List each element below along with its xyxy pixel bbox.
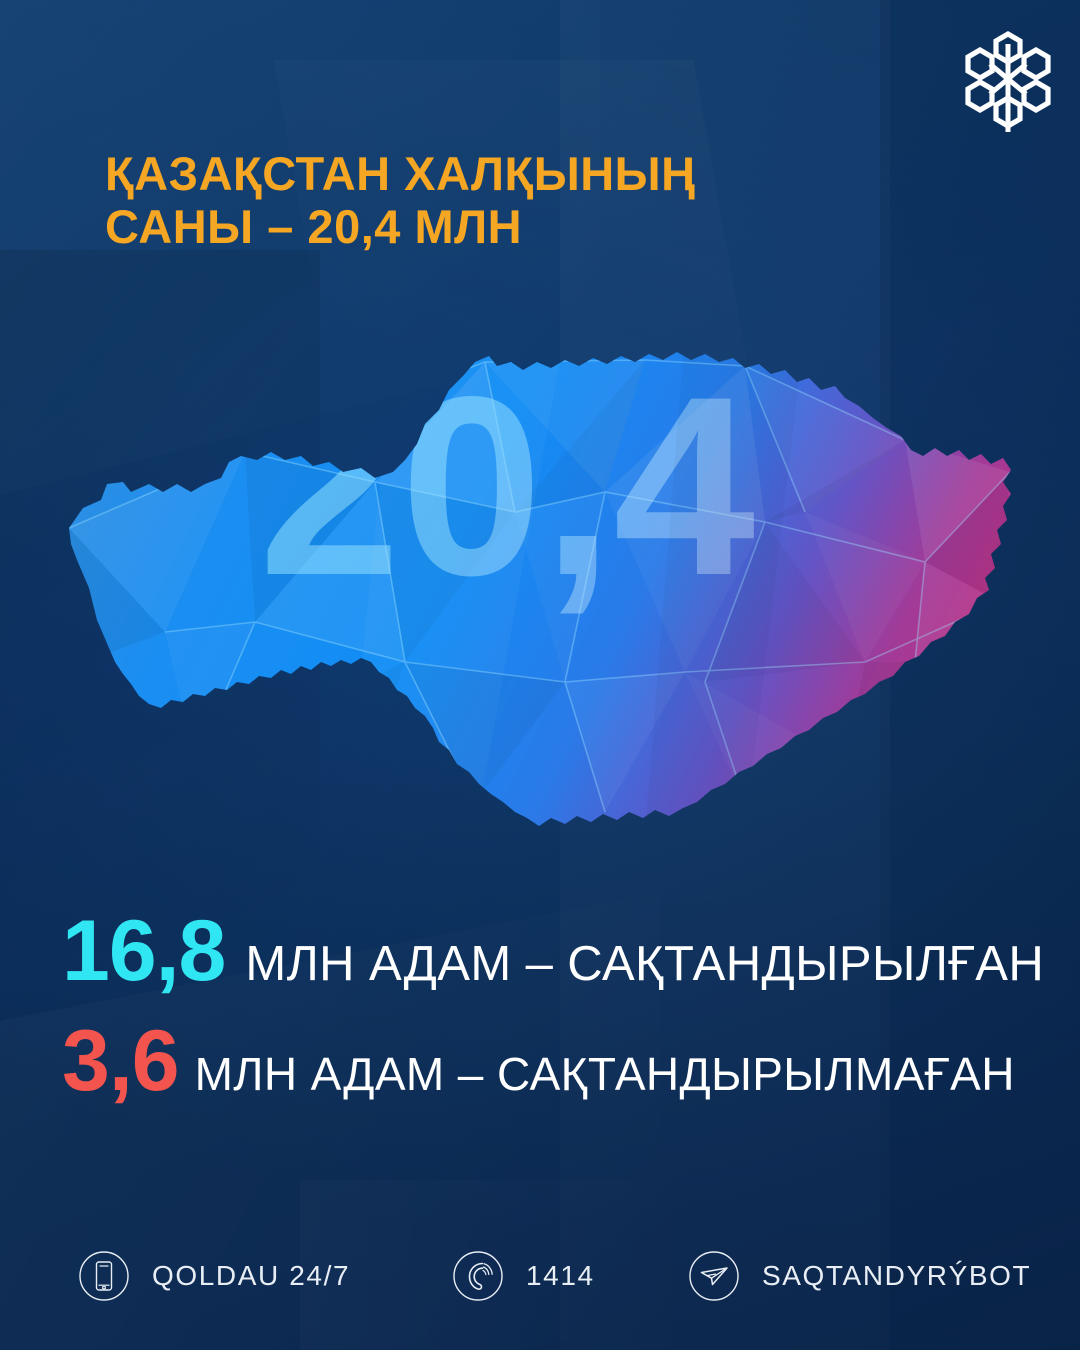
stat-value-insured: 16,8 [62,908,225,994]
footer-contacts: QOLDAU 24/7 1414 SAQTANDYRÝBOT [0,1248,1080,1318]
infographic-poster: ҚАЗАҚСТАН ХАЛҚЫНЫҢ САНЫ – 20,4 МЛН [0,0,1080,1350]
footer-item-hotline[interactable]: 1414 [452,1248,595,1304]
page-title: ҚАЗАҚСТАН ХАЛҚЫНЫҢ САНЫ – 20,4 МЛН [105,148,905,253]
stat-row-uninsured: 3,6 МЛН АДАМ – САҚТАНДЫРЫЛМАҒАН [62,1018,1040,1104]
map-silhouette: 20,4 [45,332,1035,832]
stat-value-uninsured: 3,6 [62,1018,179,1104]
stat-row-insured: 16,8 МЛН АДАМ – САҚТАНДЫРЫЛҒАН [62,908,1040,994]
stat-label-uninsured: МЛН АДАМ – САҚТАНДЫРЫЛМАҒАН [195,1051,1015,1097]
footer-item-qoldau[interactable]: QOLDAU 24/7 [78,1248,350,1304]
kazakhstan-map: 20,4 [45,332,1035,832]
footer-label-telegram-bot: SAQTANDYRÝBOT [762,1260,1031,1292]
footer-item-telegram-bot[interactable]: SAQTANDYRÝBOT [688,1248,1031,1304]
phone-call-icon [452,1250,504,1302]
snowflake-hexagon-logo [960,28,1056,136]
stat-label-insured: МЛН АДАМ – САҚТАНДЫРЫЛҒАН [245,940,1044,989]
footer-label-hotline: 1414 [526,1260,595,1292]
footer-label-qoldau: QOLDAU 24/7 [152,1260,350,1292]
telegram-plane-icon [688,1250,740,1302]
mobile-phone-icon [78,1250,130,1302]
